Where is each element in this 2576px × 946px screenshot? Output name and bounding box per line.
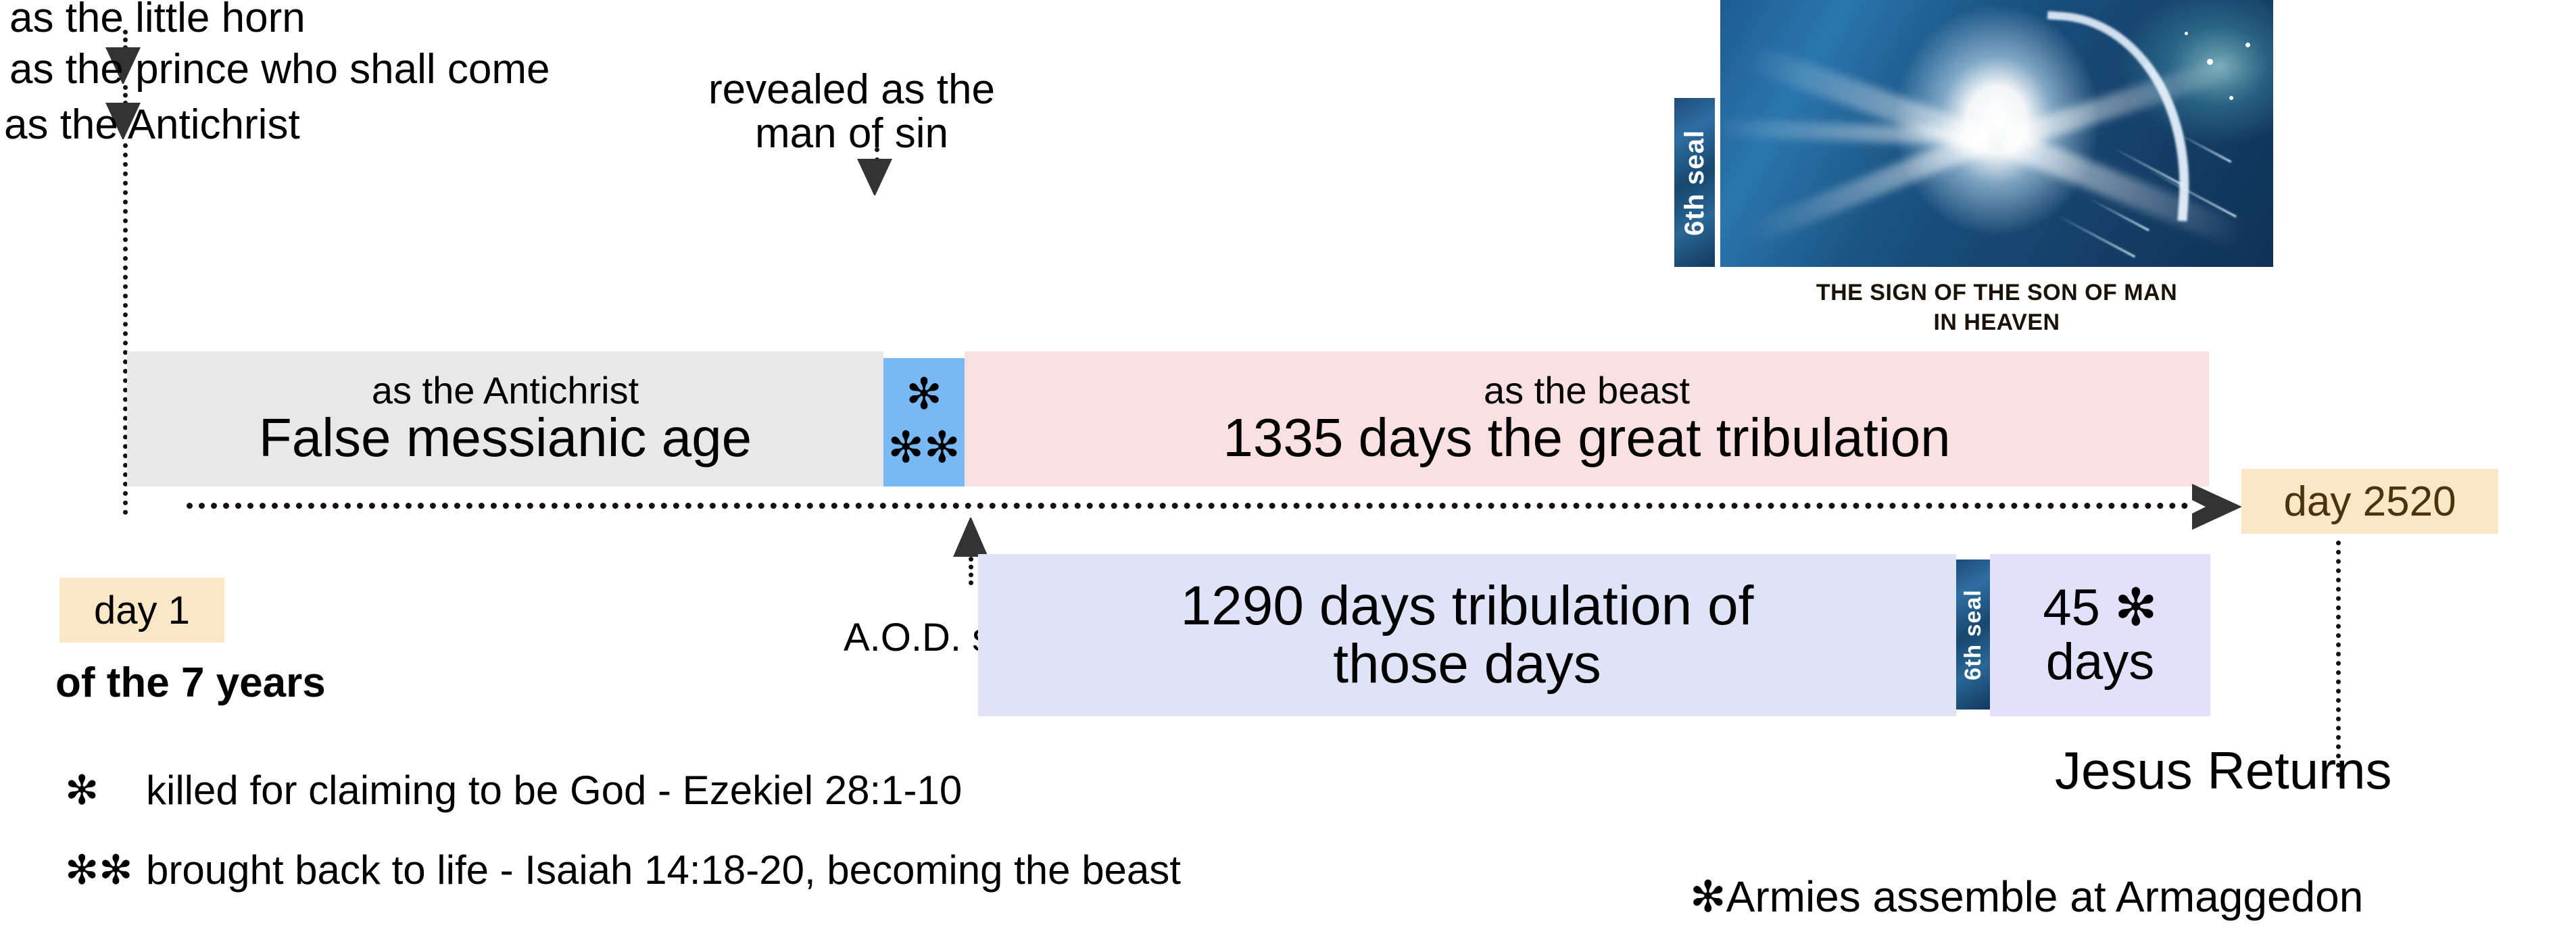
aod-arrow-up xyxy=(953,516,988,557)
day-1-pill: day 1 xyxy=(59,578,224,643)
bar-false-messianic-age-sub: as the Antichrist xyxy=(372,372,639,409)
bar-tribulation-line1: 1290 days tribulation of xyxy=(1181,577,1754,635)
day-2520-pill: day 2520 xyxy=(2241,469,2498,534)
bar-asterisk-marker: ✻ ✻✻ xyxy=(883,358,965,487)
chain-label-antichrist: as the Antichrist xyxy=(4,103,300,147)
bar-false-messianic-age-main: False messianic age xyxy=(259,409,752,466)
asterisk-single: ✻ xyxy=(906,369,942,420)
jesus-returns-label: Jesus Returns xyxy=(2055,740,2392,801)
asterisk-double: ✻✻ xyxy=(888,422,960,473)
callout-arrow-down xyxy=(857,159,892,197)
bar-great-tribulation: as the beast 1335 days the great tribula… xyxy=(965,351,2209,487)
footnote-2-mark: ✻✻ xyxy=(65,847,133,894)
sixth-seal-tab-top: 6th seal xyxy=(1674,98,1715,267)
sixth-seal-tab-timeline-label: 6th seal xyxy=(1960,589,1987,680)
footnote-1-text: killed for claiming to be God - Ezekiel … xyxy=(146,767,962,814)
timeline-end-arrow xyxy=(2192,484,2242,530)
bar-tribulation-line2: those days xyxy=(1333,635,1601,693)
sign-of-son-of-man-image xyxy=(1720,0,2273,267)
sign-image-caption-line2: IN HEAVEN xyxy=(1720,308,2273,337)
bar-forty-five-days-line1: 45 ✻ xyxy=(2043,581,2157,635)
sign-image-caption-line1: THE SIGN OF THE SON OF MAN xyxy=(1720,278,2273,307)
bar-great-tribulation-sub: as the beast xyxy=(1484,372,1690,409)
aod-connector-dots xyxy=(969,557,973,585)
seven-years-note: of the 7 years xyxy=(55,659,326,707)
callout-revealed-line2: man of sin xyxy=(676,111,1027,155)
bar-forty-five-days-line2: days xyxy=(2046,635,2155,689)
footnote-2-text: brought back to life - Isaiah 14:18-20, … xyxy=(146,847,1181,893)
footnote-1-mark: ✻ xyxy=(65,767,99,814)
sixth-seal-tab-timeline: 6th seal xyxy=(1956,559,1990,709)
bar-tribulation-of-those-days: 1290 days tribulation of those days xyxy=(978,554,1956,716)
sixth-seal-tab-top-label: 6th seal xyxy=(1680,130,1710,236)
day-1-label: day 1 xyxy=(94,588,190,633)
timeline-dotted-axis xyxy=(187,503,2201,509)
diagram-canvas: as the little horn as the prince who sha… xyxy=(0,0,2576,946)
bar-great-tribulation-main: 1335 days the great tribulation xyxy=(1223,409,1950,466)
chain-label-prince: as the prince who shall come xyxy=(9,47,550,91)
callout-revealed-line1: revealed as the xyxy=(676,68,1027,111)
day-2520-label: day 2520 xyxy=(2283,478,2456,526)
chain-label-little-horn: as the little horn xyxy=(9,0,306,40)
bar-false-messianic-age: as the Antichrist False messianic age xyxy=(127,351,883,487)
armageddon-note: ✻Armies assemble at Armaggedon xyxy=(1690,872,2363,922)
bar-forty-five-days: 45 ✻ days xyxy=(1990,554,2210,716)
